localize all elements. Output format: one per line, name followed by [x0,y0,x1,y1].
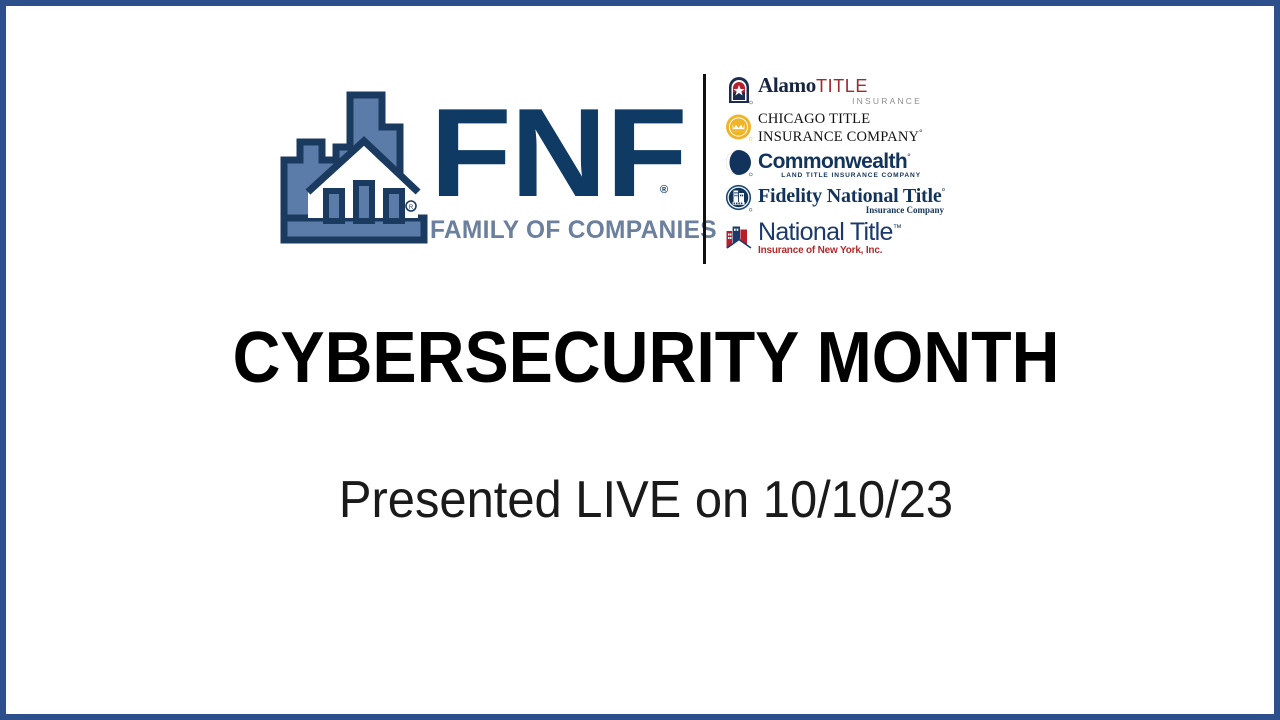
national-title-buildings-badge-icon [724,221,754,251]
svg-text:R: R [409,205,414,211]
company-logo-list: AlamoTITLE INSURANCE [724,70,924,266]
fnf-registered-mark: ® [660,184,668,196]
national-title-name-main: National Title [758,218,893,246]
commonwealth-nameplate: Commonwealth° LAND TITLE INSURANCE COMPA… [758,147,924,180]
fnf-logo-lockup: R FNF ® FAMILY OF COMPANIES [278,68,678,258]
fidelity-name-main-wrap: Fidelity National Title° [758,185,945,207]
company-logo-national-title: National Title™ Insurance of New York, I… [724,216,924,256]
chicago-name-line2: INSURANCE COMPANY [758,129,919,145]
company-logo-commonwealth: Commonwealth° LAND TITLE INSURANCE COMPA… [724,146,924,180]
chicago-title-nameplate: CHICAGO TITLE INSURANCE COMPANY° [758,112,924,145]
commonwealth-name-sub: LAND TITLE INSURANCE COMPANY [758,173,924,180]
fidelity-building-seal-badge-icon [724,183,754,213]
commonwealth-crescent-badge-icon [724,148,754,178]
fidelity-name-mark: ° [942,186,945,196]
chicago-name-mark: ° [919,128,922,137]
fnf-tagline: FAMILY OF COMPANIES [430,216,717,244]
national-title-nameplate: National Title™ Insurance of New York, I… [758,216,924,256]
slide-headline: CYBERSECURITY MONTH [57,318,1235,398]
chicago-crown-badge-icon [724,113,754,143]
commonwealth-name-main: Commonwealth [758,150,907,173]
company-logo-fidelity-national-title: Fidelity National Title° Insurance Compa… [724,180,924,216]
commonwealth-name-mark: ° [907,152,910,162]
chicago-name-line1: CHICAGO TITLE [758,112,924,127]
fidelity-nameplate: Fidelity National Title° Insurance Compa… [758,181,945,215]
fnf-wordmark: FNF [430,90,693,220]
fnf-house-skyline-icon: R [278,87,430,247]
alamo-name-accent: TITLE [816,76,868,96]
alamo-title-nameplate: AlamoTITLE INSURANCE [758,75,924,106]
national-title-name-mark: ™ [893,223,901,233]
fidelity-name-main: Fidelity National Title [758,185,942,207]
national-title-name-sub: Insurance of New York, Inc. [758,246,924,256]
national-title-name-main-wrap: National Title™ [758,218,901,246]
company-logo-alamo-title: AlamoTITLE INSURANCE [724,70,924,110]
chicago-name-line2-wrap: INSURANCE COMPANY° [758,126,924,144]
brand-divider-line [703,74,706,264]
alamo-name-main: Alamo [758,73,816,97]
commonwealth-name-main-wrap: Commonwealth° [758,150,910,173]
alamo-name-sub: INSURANCE [758,97,924,106]
alamo-arch-star-badge-icon [724,75,754,105]
fidelity-name-sub: Insurance Company [758,206,945,215]
slide-subtitle: Presented LIVE on 10/10/23 [44,469,1247,531]
brand-logo-band: R FNF ® FAMILY OF COMPANIES [278,68,918,268]
slide-canvas: R FNF ® FAMILY OF COMPANIES [0,0,1280,720]
company-logo-chicago-title: CHICAGO TITLE INSURANCE COMPANY° [724,110,924,146]
